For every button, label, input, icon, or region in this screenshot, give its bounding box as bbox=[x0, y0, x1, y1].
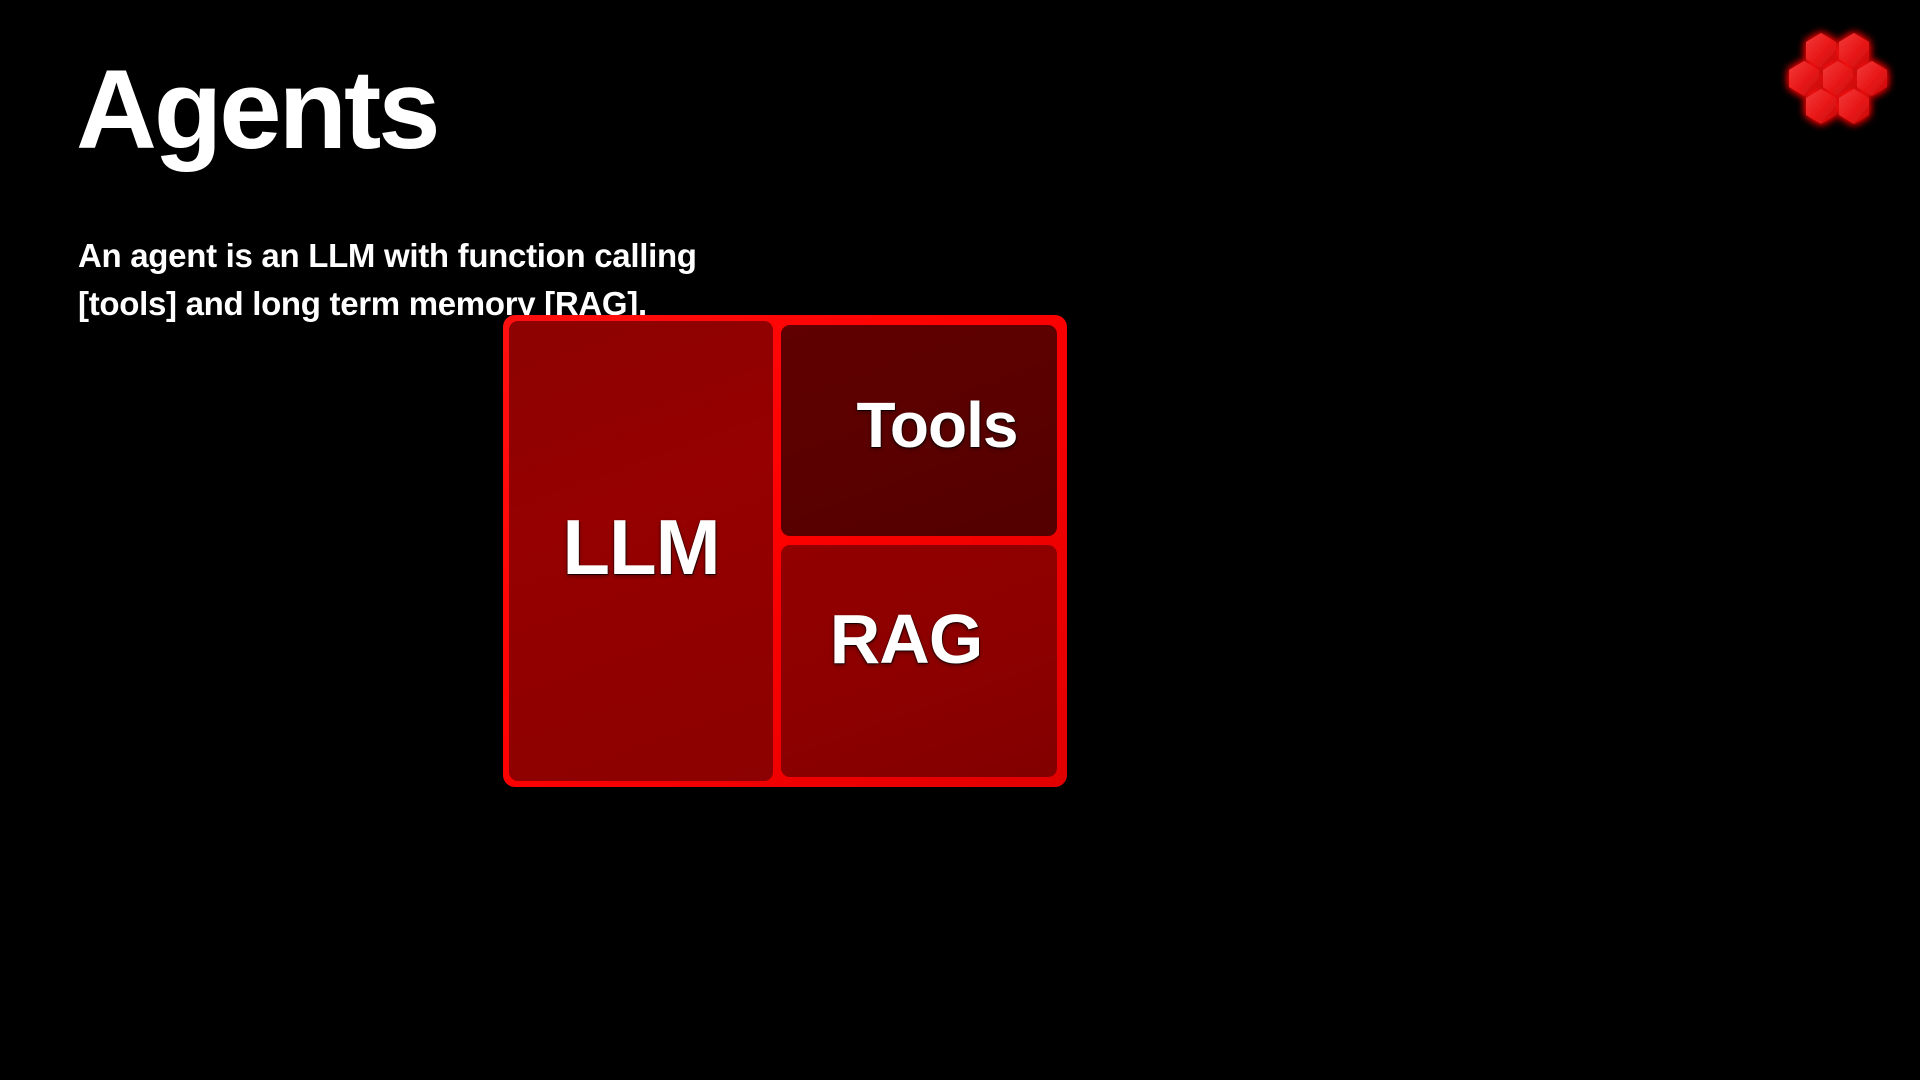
panel-llm: LLM bbox=[509, 321, 773, 781]
panel-tools-label: Tools bbox=[781, 393, 1057, 457]
subtitle-block: An agent is an LLM with function calling… bbox=[78, 232, 697, 328]
panel-rag: RAG bbox=[781, 545, 1057, 777]
hex-bottom-left bbox=[1806, 89, 1836, 124]
hex-mid-center bbox=[1823, 61, 1853, 96]
slide-root: Agents An agent is an LLM with function … bbox=[0, 0, 1920, 1080]
subtitle-line-1: An agent is an LLM with function calling bbox=[78, 232, 697, 280]
page-title: Agents bbox=[76, 54, 438, 166]
panel-tools: Tools bbox=[781, 325, 1057, 536]
diagram-left-column: LLM bbox=[509, 321, 773, 781]
diagram-right-column: Tools RAG bbox=[781, 321, 1061, 781]
panel-rag-label: RAG bbox=[781, 604, 1057, 674]
panel-llm-label: LLM bbox=[509, 508, 773, 586]
hex-top-right bbox=[1839, 33, 1869, 68]
hex-mid-left bbox=[1789, 61, 1819, 96]
hex-top-left bbox=[1806, 33, 1836, 68]
hex-bottom-right bbox=[1839, 89, 1869, 124]
agent-architecture-diagram: LLM Tools RAG bbox=[503, 315, 1067, 787]
hex-mid-right bbox=[1857, 61, 1887, 96]
hexagon-flower-logo bbox=[1783, 25, 1893, 135]
